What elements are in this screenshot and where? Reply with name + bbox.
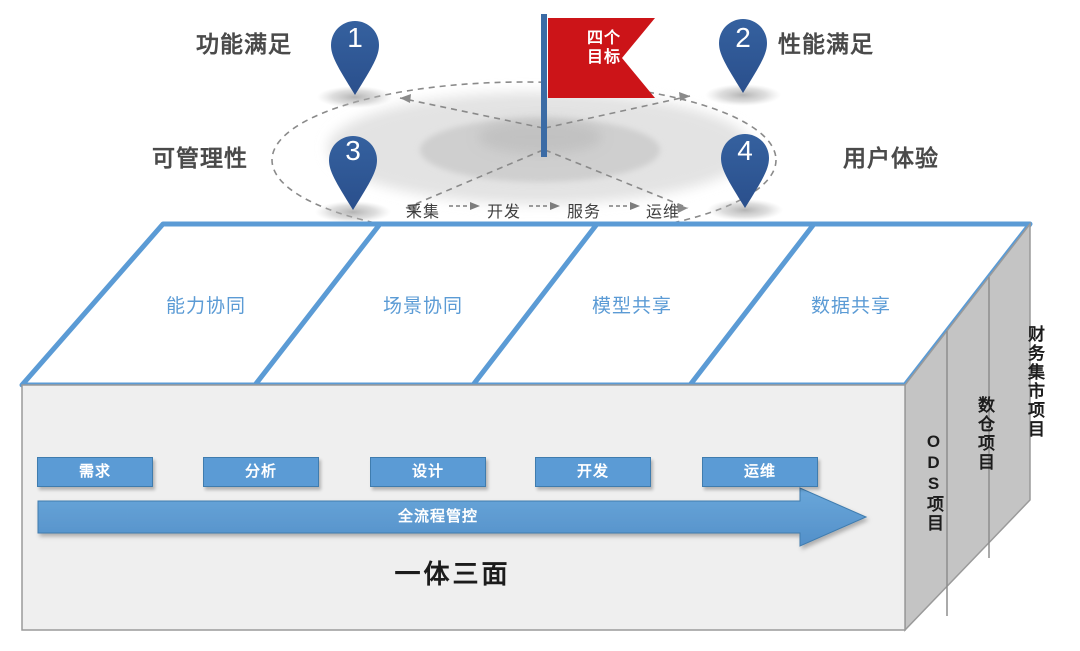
- top-panel-label-model-sharing[interactable]: 模型共享: [592, 291, 672, 318]
- goal-label-function-satisfaction: 功能满足: [196, 25, 292, 59]
- stage-button-design[interactable]: 设计: [370, 457, 486, 487]
- flow-step-develop: 开发: [487, 198, 521, 222]
- goal-flag-label-line2: 目标: [566, 49, 642, 68]
- slab-base-title: 一体三面: [0, 554, 905, 591]
- map-pin-2[interactable]: [719, 19, 767, 93]
- goal-label-manageability: 可管理性: [152, 139, 248, 173]
- top-panel-label-data-sharing[interactable]: 数据共享: [811, 291, 891, 318]
- goal-label-user-experience: 用户体验: [843, 139, 939, 173]
- stage-button-requirements[interactable]: 需求: [37, 457, 153, 487]
- diagram-canvas: 1 2 3 4 功能满足 性能满足 可管理性 用户体验 四个 目标 采集 开发 …: [0, 0, 1080, 651]
- goal-flag-label-line1: 四个: [566, 30, 642, 49]
- map-pin-3[interactable]: [329, 136, 377, 210]
- top-panel-label-scenario-collaboration[interactable]: 场景协同: [383, 291, 463, 318]
- goal-flag-label: 四个 目标: [566, 30, 642, 68]
- side-panel-label-data-warehouse-project[interactable]: 数仓项目: [972, 396, 997, 472]
- top-panel-label-capability-collaboration[interactable]: 能力协同: [166, 291, 246, 318]
- side-panel-label-ods-project[interactable]: ODS项目: [921, 432, 946, 533]
- flow-step-service: 服务: [567, 198, 601, 222]
- flow-step-operations: 运维: [646, 198, 680, 222]
- stage-button-analysis[interactable]: 分析: [203, 457, 319, 487]
- stage-button-development[interactable]: 开发: [535, 457, 651, 487]
- stage-button-operations[interactable]: 运维: [702, 457, 818, 487]
- map-pin-1[interactable]: [331, 21, 379, 95]
- goal-label-performance-satisfaction: 性能满足: [778, 25, 874, 59]
- flow-step-collect: 采集: [406, 198, 440, 222]
- map-pin-4[interactable]: [721, 134, 769, 208]
- target-ellipses: [328, 92, 752, 204]
- side-panel-label-finance-mart-project[interactable]: 财务集市项目: [1022, 325, 1047, 439]
